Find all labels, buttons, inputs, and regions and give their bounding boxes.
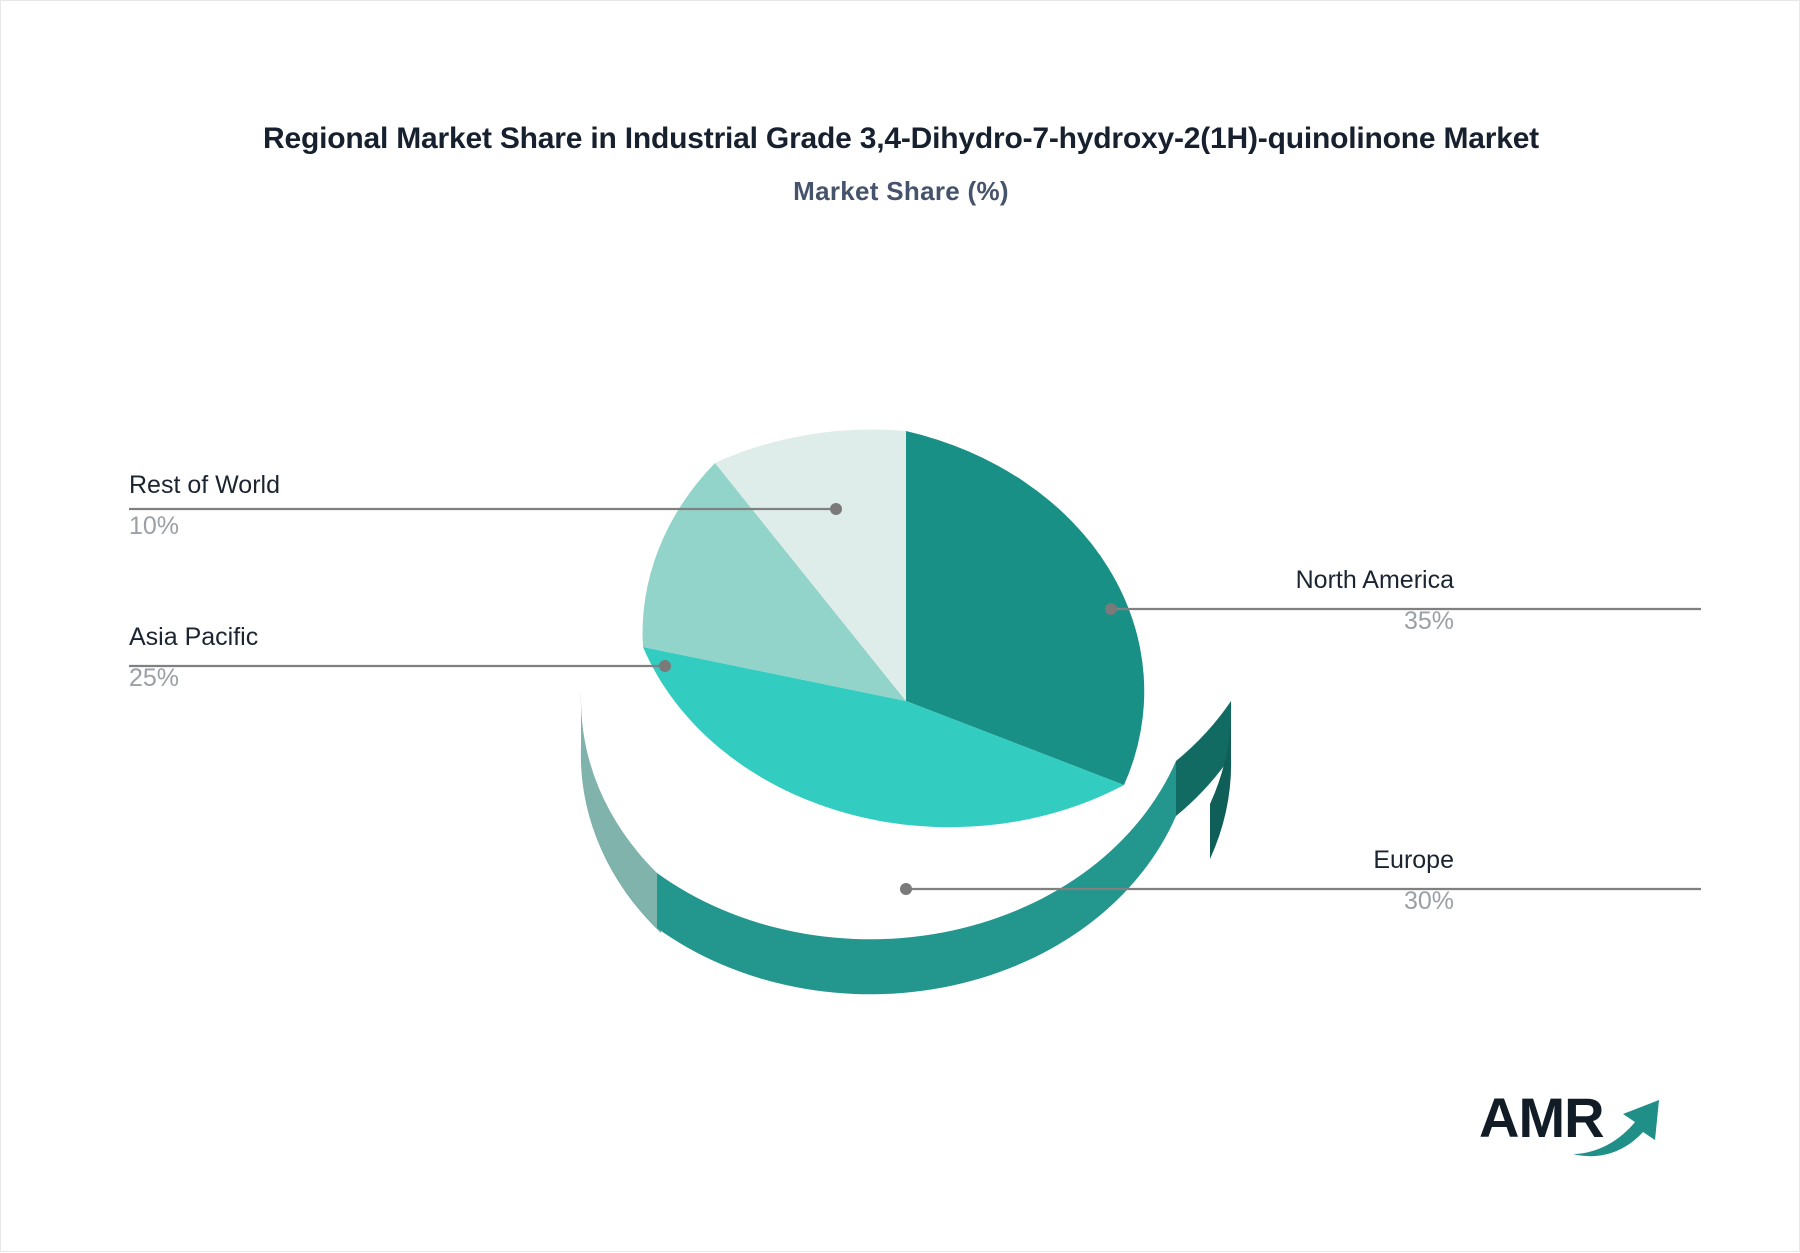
pie-slice-europe bbox=[643, 647, 1124, 827]
callout-asia-pacific: Asia Pacific 25% bbox=[129, 623, 519, 693]
page-title: Regional Market Share in Industrial Grad… bbox=[151, 121, 1651, 158]
callout-value-north-america: 35% bbox=[1064, 607, 1454, 636]
callout-value-rest-of-world: 10% bbox=[129, 512, 519, 541]
callout-rest-of-world: Rest of World 10% bbox=[129, 471, 519, 541]
title-block: Regional Market Share in Industrial Grad… bbox=[151, 121, 1651, 207]
leader-dot-rest-of-world bbox=[830, 503, 842, 515]
pie-slice-rest-of-world bbox=[715, 430, 906, 701]
pie-side-asia-pacific bbox=[581, 701, 661, 933]
chart-canvas: Regional Market Share in Industrial Grad… bbox=[0, 0, 1800, 1252]
pie-leader-dots bbox=[659, 503, 1117, 895]
pie-side-north-america-2 bbox=[1210, 701, 1231, 859]
callout-label-rest-of-world: Rest of World bbox=[129, 471, 519, 500]
pie-depth-walls bbox=[581, 691, 1231, 994]
callout-label-north-america: North America bbox=[1064, 566, 1454, 595]
leader-dot-europe bbox=[900, 883, 912, 895]
pie-slice-asia-pacific bbox=[643, 463, 906, 701]
growth-arrow-icon bbox=[1571, 1092, 1667, 1160]
callout-value-asia-pacific: 25% bbox=[129, 664, 519, 693]
callout-value-europe: 30% bbox=[1064, 887, 1454, 916]
callout-north-america: North America 35% bbox=[1064, 566, 1454, 636]
pie-leader-lines bbox=[129, 509, 1701, 889]
amr-logo: AMR bbox=[1479, 1086, 1669, 1164]
pie-side-north-america bbox=[1176, 701, 1231, 816]
callout-europe: Europe 30% bbox=[1064, 846, 1454, 916]
leader-dot-asia-pacific bbox=[659, 660, 671, 672]
callout-label-europe: Europe bbox=[1064, 846, 1454, 875]
chart-subtitle: Market Share (%) bbox=[151, 176, 1651, 207]
callout-label-asia-pacific: Asia Pacific bbox=[129, 623, 519, 652]
pie-side-asia-pacific-2 bbox=[581, 691, 657, 928]
